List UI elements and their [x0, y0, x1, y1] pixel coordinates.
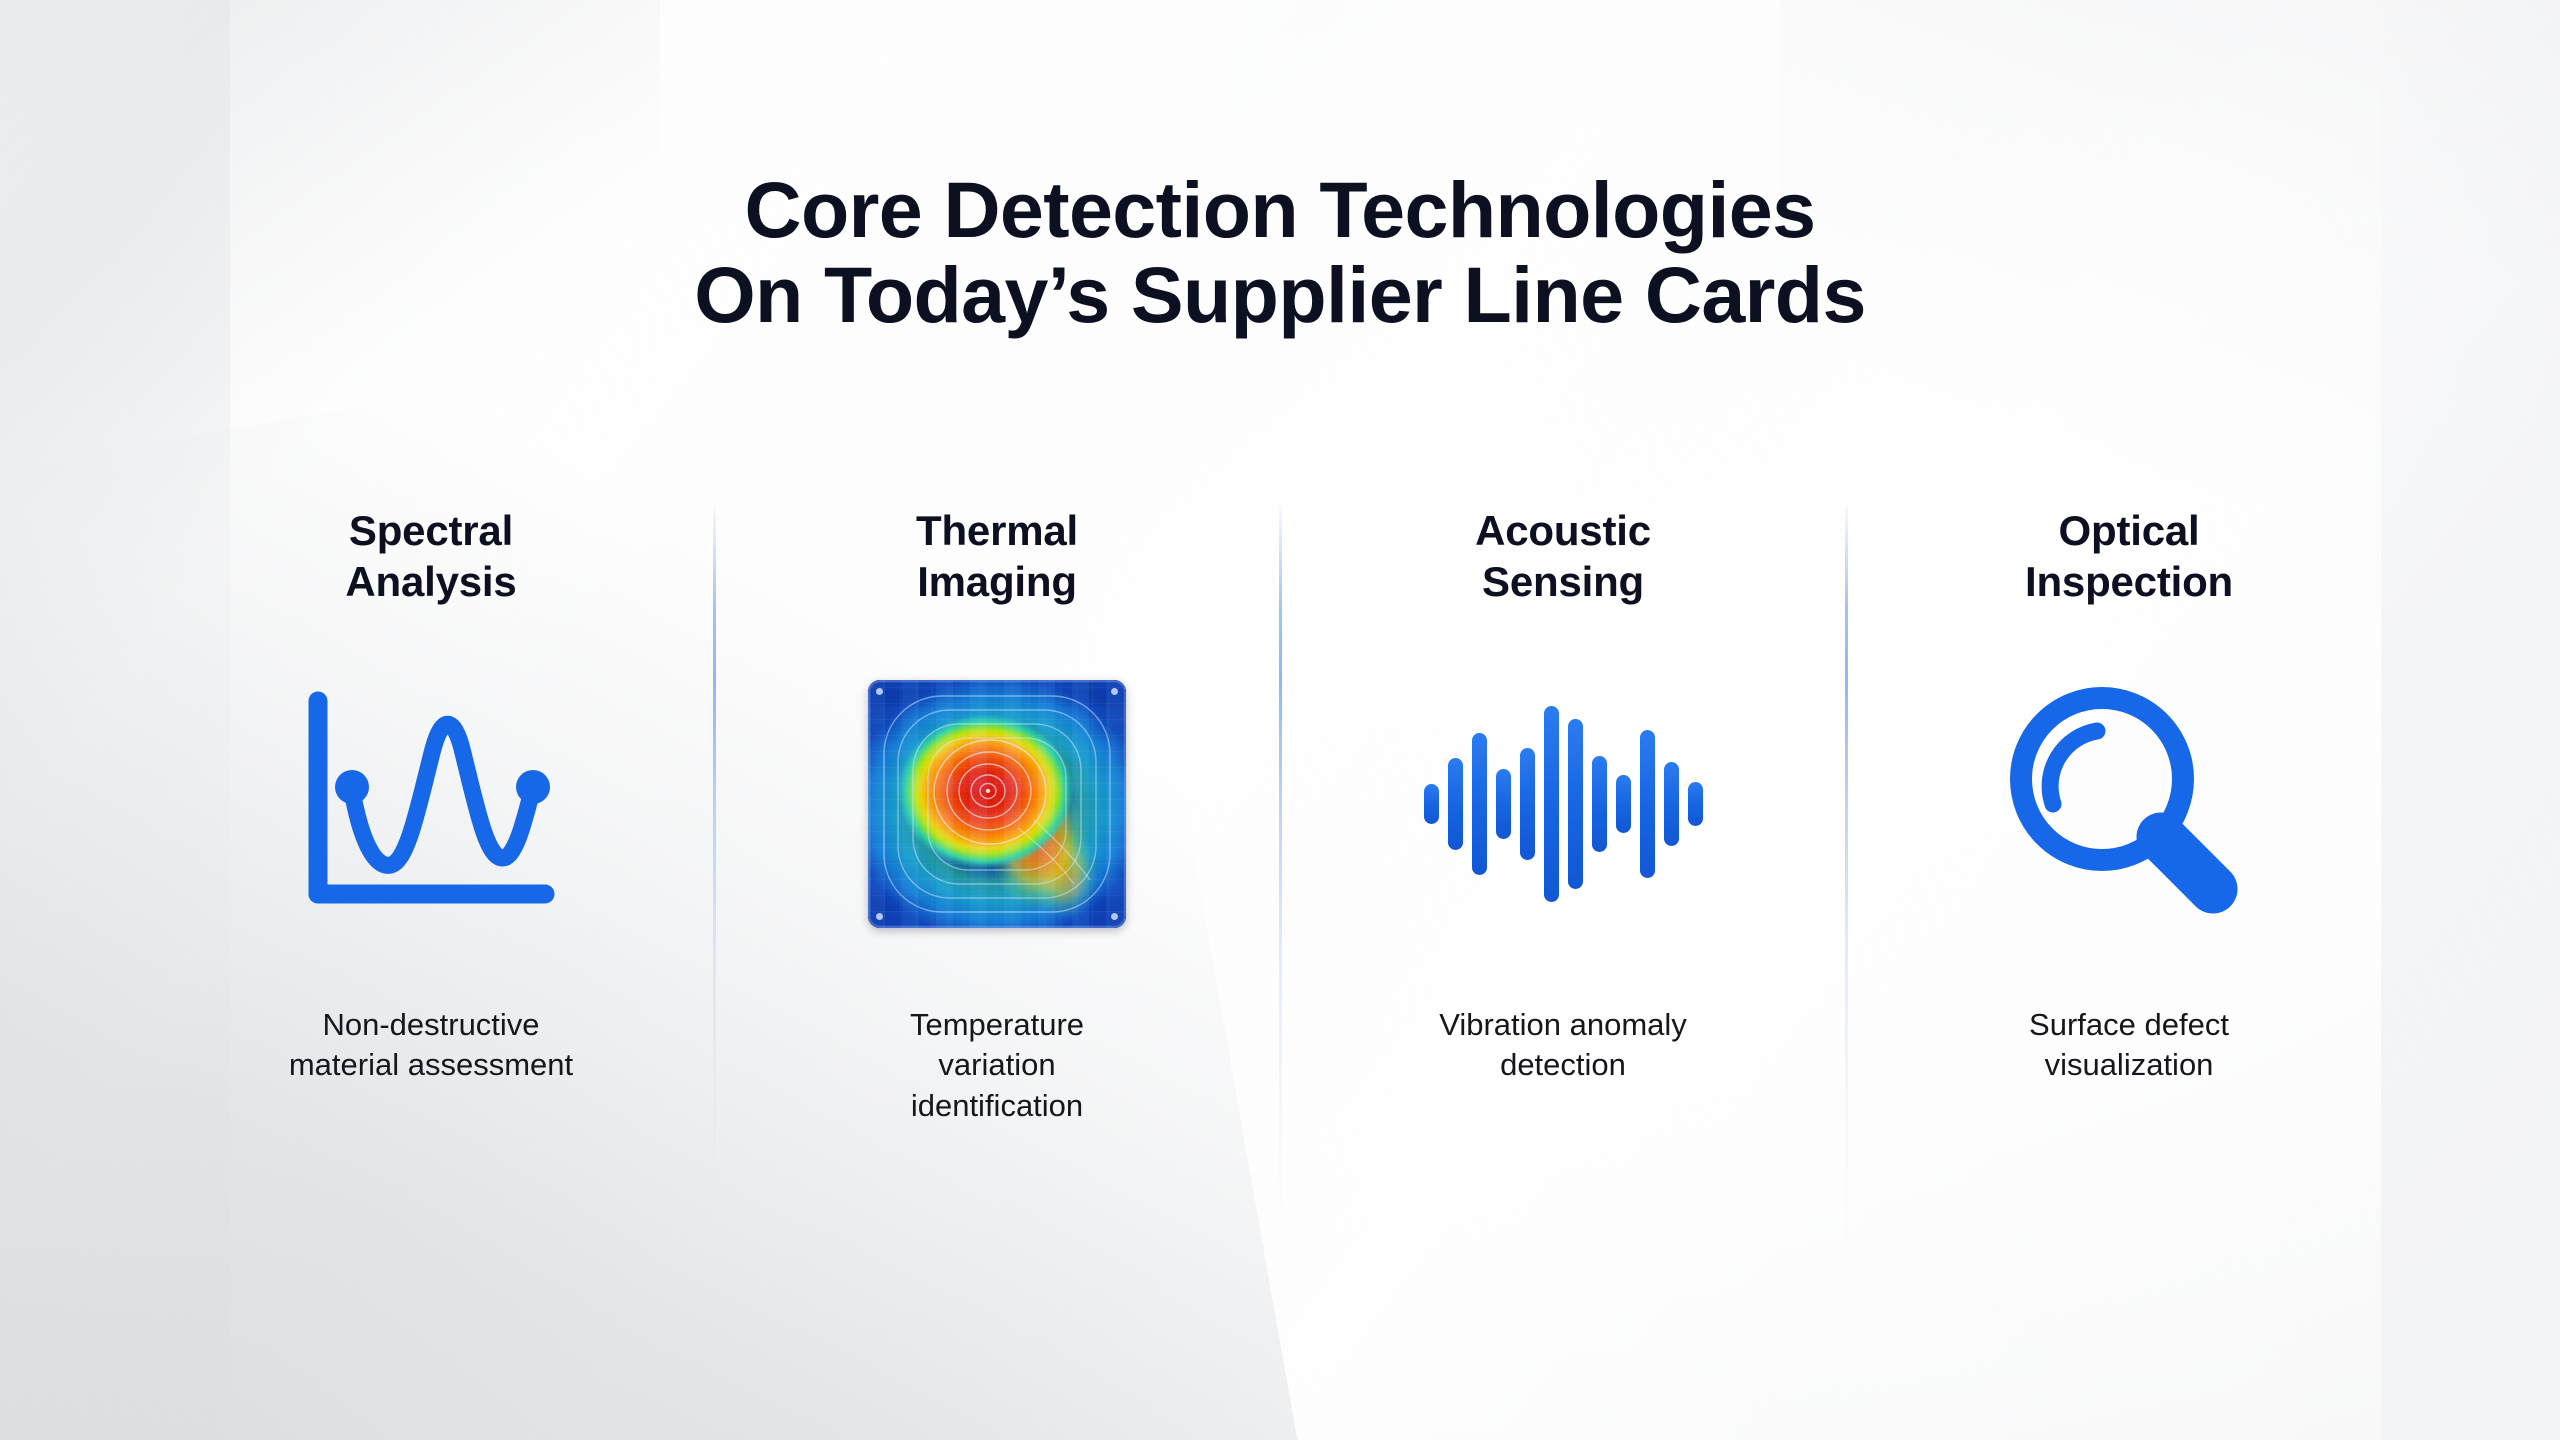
- waveform-bar: [1664, 762, 1679, 847]
- caption-line-2: visualization: [2029, 1045, 2229, 1085]
- caption-line-1: Surface defect: [2029, 1005, 2229, 1045]
- column-heading-line-1: Spectral: [345, 505, 516, 556]
- column-caption-thermal: Temperature variation identification: [910, 1005, 1084, 1126]
- magnifier-handle: [2161, 837, 2213, 889]
- thermal-corner-dot-bottom-right: [1111, 913, 1118, 920]
- thermal-corner-dot-bottom-left: [876, 913, 883, 920]
- magnifying-glass-icon: [1999, 679, 2259, 929]
- column-heading-line-2: Inspection: [2025, 556, 2233, 607]
- thermal-corner-dot-top-left: [876, 688, 883, 695]
- waveform-bar: [1496, 769, 1511, 840]
- waveform-bar: [1448, 758, 1463, 850]
- caption-line-2: detection: [1439, 1045, 1687, 1085]
- column-spectral-analysis[interactable]: Spectral Analysis Non-destr: [148, 505, 714, 1315]
- column-acoustic-sensing[interactable]: Acoustic Sensing Vibration anomaly detec…: [1280, 505, 1846, 1315]
- waveform-bar: [1544, 706, 1559, 903]
- column-heading-thermal: Thermal Imaging: [916, 505, 1078, 617]
- title-line-1: Core Detection Technologies: [0, 168, 2560, 253]
- acoustic-waveform-icon-wrap: [1280, 639, 1846, 969]
- waveform-bar: [1640, 730, 1655, 878]
- waveform-bar: [1424, 784, 1439, 824]
- spectral-point-right: [516, 770, 550, 804]
- thermal-panel-border: [868, 680, 1126, 928]
- column-heading-line-2: Imaging: [916, 556, 1078, 607]
- caption-line-2: material assessment: [289, 1045, 573, 1085]
- column-heading-line-1: Optical: [2025, 505, 2233, 556]
- waveform-bar: [1520, 748, 1535, 860]
- waveform-bar: [1592, 756, 1607, 851]
- infographic-canvas: Core Detection Technologies On Today’s S…: [0, 0, 2560, 1440]
- column-caption-optical: Surface defect visualization: [2029, 1005, 2229, 1086]
- caption-line-1: Temperature: [910, 1005, 1084, 1045]
- page-title: Core Detection Technologies On Today’s S…: [0, 168, 2560, 337]
- spectral-point-left: [335, 770, 369, 804]
- column-heading-line-1: Thermal: [916, 505, 1078, 556]
- caption-line-2: variation: [910, 1045, 1084, 1085]
- thermal-corner-dot-top-right: [1111, 688, 1118, 695]
- waveform-bar: [1688, 782, 1703, 825]
- waveform-bar: [1568, 719, 1583, 888]
- column-heading-acoustic: Acoustic Sensing: [1475, 505, 1651, 617]
- magnifying-glass-icon-wrap: [1846, 639, 2412, 969]
- column-caption-acoustic: Vibration anomaly detection: [1439, 1005, 1687, 1086]
- column-heading-optical: Optical Inspection: [2025, 505, 2233, 617]
- thermal-heatmap-icon-wrap: [714, 639, 1280, 969]
- acoustic-waveform-icon: [1413, 689, 1713, 919]
- magnifier-highlight-arc: [2050, 731, 2097, 804]
- column-heading-line-2: Sensing: [1475, 556, 1651, 607]
- waveform-bar: [1472, 733, 1487, 875]
- caption-line-1: Non-destructive: [289, 1005, 573, 1045]
- thermal-heatmap-icon: [868, 680, 1126, 928]
- caption-line-1: Vibration anomaly: [1439, 1005, 1687, 1045]
- column-optical-inspection[interactable]: Optical Inspection Surface defect visual…: [1846, 505, 2412, 1315]
- title-line-2: On Today’s Supplier Line Cards: [0, 253, 2560, 338]
- spectral-line-chart-icon-wrap: [148, 639, 714, 969]
- column-heading-spectral: Spectral Analysis: [345, 505, 516, 617]
- column-heading-line-1: Acoustic: [1475, 505, 1651, 556]
- caption-line-3: identification: [910, 1086, 1084, 1126]
- waveform-bar: [1616, 775, 1631, 833]
- column-thermal-imaging[interactable]: Thermal Imaging: [714, 505, 1280, 1315]
- technology-columns: Spectral Analysis Non-destr: [148, 505, 2412, 1315]
- spectral-line-chart-icon: [302, 687, 560, 922]
- column-caption-spectral: Non-destructive material assessment: [289, 1005, 573, 1086]
- column-heading-line-2: Analysis: [345, 556, 516, 607]
